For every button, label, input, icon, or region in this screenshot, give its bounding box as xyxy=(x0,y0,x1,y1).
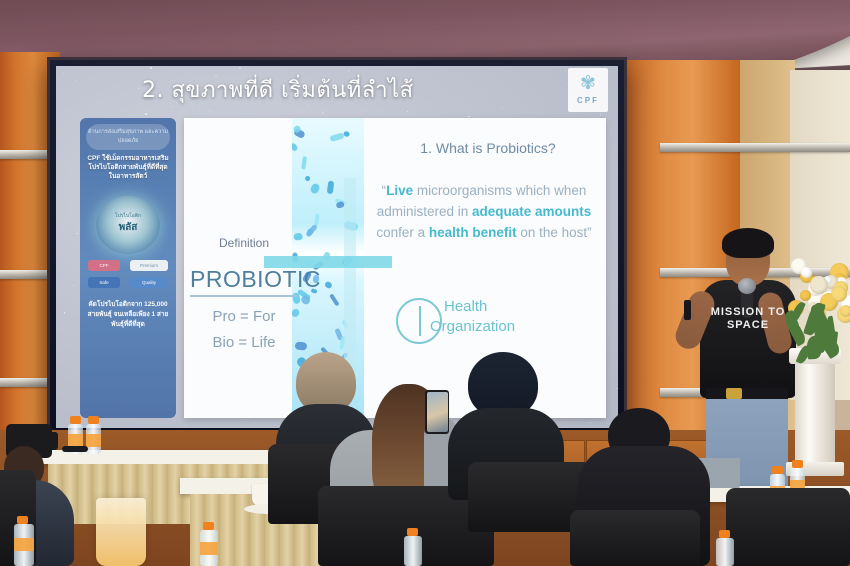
quote-bold-benefit: health benefit xyxy=(429,225,517,240)
juice-glass xyxy=(96,498,146,566)
wall-accent-strip xyxy=(660,143,850,152)
product-badge-top-text: โปรไบโอติก xyxy=(96,212,160,220)
microphone-head-icon xyxy=(738,278,756,294)
water-bottle xyxy=(716,538,734,566)
chair xyxy=(570,510,700,566)
bottle-label xyxy=(86,434,101,447)
cpf-lotus-icon: ✾ xyxy=(575,72,601,96)
definition-line-1: Pro = For xyxy=(198,308,290,325)
slide-content-card: Definition PROBIOTIC Pro = For Bio = Lif… xyxy=(184,118,606,418)
who-text-line-1: Health xyxy=(444,298,487,315)
product-chip-row: CPF Premium Safe Quality xyxy=(86,260,170,294)
phone-on-table xyxy=(62,446,88,452)
product-panel: ด้านการส่งเสริมสุขภาพ และความปลอดภัย CPF… xyxy=(80,118,176,418)
phone-screen xyxy=(427,392,448,432)
who-logo: Health Organization xyxy=(380,294,595,350)
screenshot-root: 2. สุขภาพที่ดี เริ่มต้นที่ลำไส้ ✾ CPF ด้… xyxy=(0,0,850,566)
slide-title: 2. สุขภาพที่ดี เริ่มต้นที่ลำไส้ xyxy=(142,72,414,107)
water-bottle xyxy=(200,530,218,566)
wall-accent-strip xyxy=(0,150,48,159)
chair xyxy=(726,488,850,566)
water-bottle xyxy=(14,524,34,566)
bottle-cap xyxy=(70,416,81,424)
speaker-hair xyxy=(722,228,774,258)
bottle-cap xyxy=(88,416,99,424)
bottle-cap xyxy=(407,528,418,536)
definition-word: PROBIOTIC xyxy=(190,266,298,297)
speaker-belt xyxy=(706,388,788,399)
product-panel-footer: คัดโปรไบโอติกจาก 125,000 สายพันธุ์ จนเหล… xyxy=(84,300,172,330)
cpf-logo: ✾ CPF xyxy=(568,68,608,112)
bottle-cap xyxy=(719,530,730,538)
quote-plain-2: confer a xyxy=(376,225,429,240)
pedestal-column xyxy=(795,360,835,470)
bottle-label xyxy=(200,542,218,555)
bottle-label xyxy=(14,538,34,551)
definition-line-2: Bio = Life xyxy=(198,334,290,351)
shirt-text-line-1: MISSION TO xyxy=(708,306,788,319)
slide-title-bar: 2. สุขภาพที่ดี เริ่มต้นที่ลำไส้ ✾ CPF xyxy=(56,66,618,112)
camera-lens-icon xyxy=(44,432,58,450)
question-heading: 1. What is Probiotics? xyxy=(376,140,600,156)
wall-accent-strip xyxy=(0,378,48,387)
who-text-line-2: Organization xyxy=(430,318,515,335)
probiotic-quote: “Live microorganisms which when administ… xyxy=(364,180,604,243)
smartphone-recording xyxy=(425,390,449,434)
quote-plain-3: on the host” xyxy=(517,225,592,240)
water-bottle xyxy=(86,424,101,454)
cpf-logo-text: CPF xyxy=(568,96,608,105)
water-bottle xyxy=(404,536,422,566)
product-badge-main-text: พลัส xyxy=(96,220,160,235)
speaker-belt-buckle xyxy=(726,388,742,399)
speaker-shirt-text: MISSION TO SPACE xyxy=(708,306,788,332)
shirt-text-line-2: SPACE xyxy=(708,319,788,332)
wall-accent-strip xyxy=(0,270,48,279)
product-chip: Quality xyxy=(130,277,168,288)
product-badge: โปรไบโอติก พลัส xyxy=(96,196,160,254)
product-chip: CPF xyxy=(88,260,120,271)
product-panel-header: ด้านการส่งเสริมสุขภาพ และความปลอดภัย xyxy=(86,124,170,150)
bottle-cap xyxy=(792,460,803,468)
product-panel-body: CPF ใช้เม็ดกรรมอาหารเสริม โปรไบโอติกสายพ… xyxy=(84,154,172,181)
cyan-vertical-accent xyxy=(344,178,356,368)
definition-label: Definition xyxy=(198,236,290,250)
quote-bold-live: Live xyxy=(386,183,413,198)
product-chip: Safe xyxy=(88,277,120,288)
quote-bold-adequate: adequate amounts xyxy=(472,204,591,219)
presenter-clicker xyxy=(684,300,691,320)
bottle-cap xyxy=(203,522,214,530)
bottle-cap xyxy=(17,516,28,524)
bottle-cap xyxy=(772,466,783,474)
product-chip: Premium xyxy=(130,260,168,271)
